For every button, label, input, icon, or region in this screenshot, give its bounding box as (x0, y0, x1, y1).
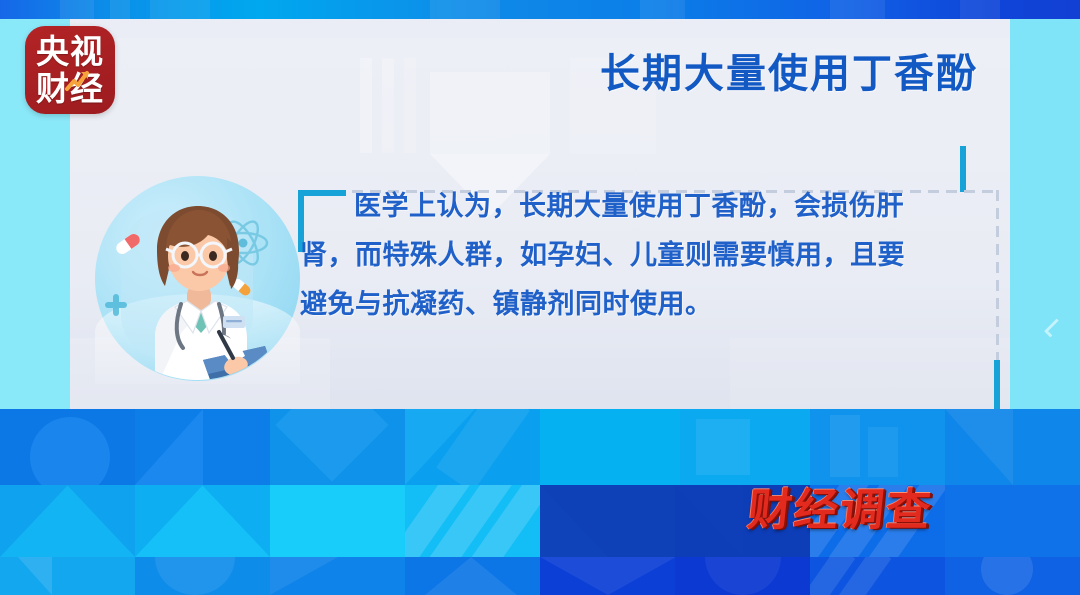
right-rail (1010, 19, 1080, 409)
channel-logo: 央视 财经 (25, 26, 115, 114)
channel-logo-line2: 财经 (36, 72, 104, 105)
broadcast-frame: 长期大量使用丁香酚 医学上认为，长期大量使用丁香酚，会损伤肝肾，而特殊人群，如孕… (0, 0, 1080, 595)
program-logo: 财经调查 (745, 483, 981, 538)
accent-tick (960, 146, 966, 192)
doctor-figure (95, 176, 310, 391)
trend-arrow-icon (64, 68, 90, 94)
page-title: 长期大量使用丁香酚 (600, 47, 1000, 101)
channel-logo-line1: 央视 (36, 35, 104, 68)
top-gradient-strip (0, 0, 1080, 19)
female-doctor-illustration (95, 176, 310, 391)
chevron-left-icon (1044, 318, 1063, 337)
card-body-text: 医学上认为，长期大量使用丁香酚，会损伤肝肾，而特殊人群，如孕妇、儿童则需要慎用，… (300, 182, 928, 329)
